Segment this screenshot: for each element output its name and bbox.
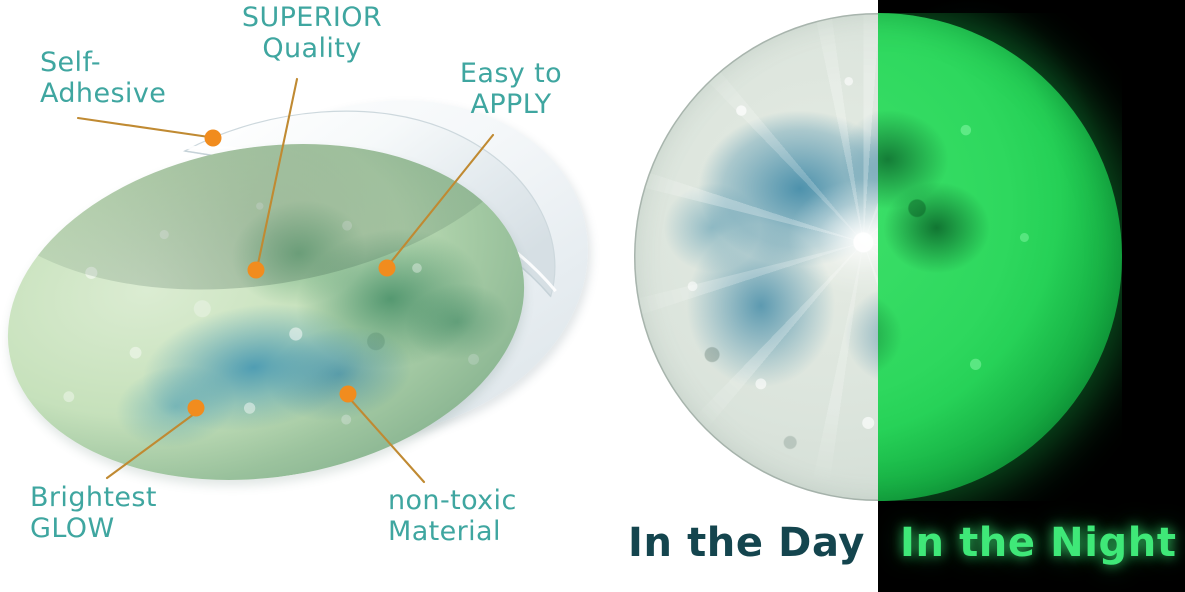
callout-label-self-adhesive: Self- Adhesive [40,47,166,110]
moon-night-half [878,13,1122,501]
callout-label-easy-to-apply: Easy to APPLY [436,58,586,121]
product-feature-image: Self- Adhesive SUPERIOR Quality Easy to … [0,0,1185,592]
glow-moon-sticker-disc [0,108,549,515]
left-panel-sticker-features: Self- Adhesive SUPERIOR Quality Easy to … [0,0,600,592]
callout-label-non-toxic: non-toxic Material [388,485,517,548]
moon-day-half [634,13,878,501]
moon-night-limb-shading [878,13,1122,501]
comparison-moon [634,13,1122,501]
moon-night-surface [878,13,1122,501]
peeling-moon-sticker [0,95,600,515]
callout-label-brightest-glow: Brightest GLOW [30,482,157,545]
moon-day-surface [634,13,878,501]
right-panel-day-night: In the Day In the Night [600,0,1185,592]
caption-in-the-day: In the Day [628,520,865,566]
caption-in-the-night: In the Night [900,520,1177,566]
callout-label-superior-quality: SUPERIOR Quality [222,2,402,65]
moon-day-rim [634,13,878,501]
